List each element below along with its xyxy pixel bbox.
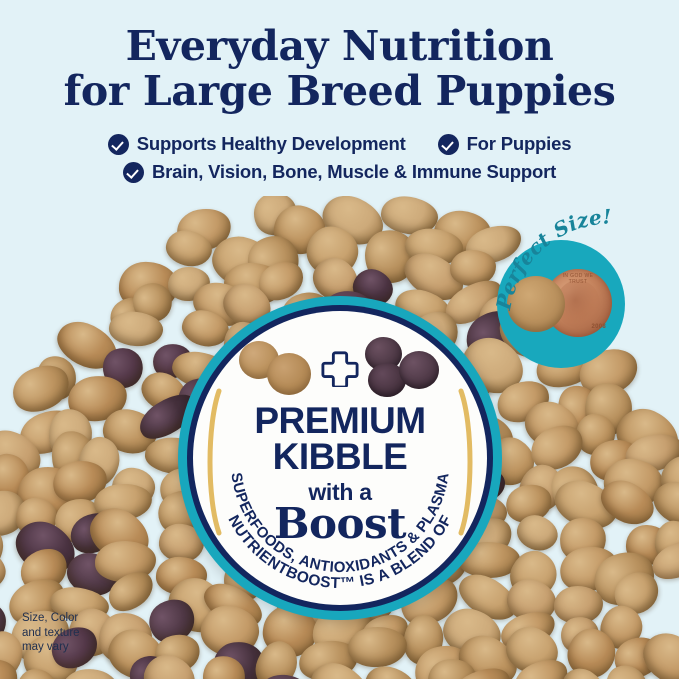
benefit-item: Brain, Vision, Bone, Muscle & Immune Sup…	[123, 161, 556, 183]
infographic-canvas: Everyday Nutrition for Large Breed Puppi…	[0, 0, 679, 679]
disclaimer-line-2: and texture	[22, 626, 142, 641]
kibble-size-sample	[507, 276, 565, 332]
benefit-label: Supports Healthy Development	[137, 133, 406, 155]
check-circle-icon	[123, 162, 144, 183]
benefit-row-1: Supports Healthy Development For Puppies	[0, 133, 679, 155]
benefit-row-2: Brain, Vision, Bone, Muscle & Immune Sup…	[0, 161, 679, 183]
badge-face: PREMIUM KIBBLE with a Boost NUTRIENTBOOS…	[193, 311, 487, 605]
premium-kibble-badge: PREMIUM KIBBLE with a Boost NUTRIENTBOOS…	[178, 296, 502, 620]
benefit-label: Brain, Vision, Bone, Muscle & Immune Sup…	[152, 161, 556, 183]
disclaimer-line-3: may vary	[22, 640, 142, 655]
disclaimer-line-1: Size, Color	[22, 611, 142, 626]
coin-year: 2008	[591, 324, 606, 330]
headline-line-2: for Large Breed Puppies	[0, 69, 679, 114]
check-circle-icon	[438, 134, 459, 155]
benefit-item: Supports Healthy Development	[108, 133, 406, 155]
disclaimer-text: Size, Color and texture may vary	[22, 611, 142, 655]
benefit-label: For Puppies	[467, 133, 572, 155]
headline-line-1: Everyday Nutrition	[126, 22, 554, 70]
check-circle-icon	[108, 134, 129, 155]
badge-arc-text: NUTRIENTBOOST™ IS A BLEND OF SUPERFOODS,…	[193, 311, 487, 605]
kibble-piece	[347, 626, 408, 669]
perfect-size-callout: IN GOD WE TRUST 2008 Perfect Size!	[497, 240, 625, 368]
page-title: Everyday Nutrition for Large Breed Puppi…	[0, 24, 679, 114]
benefit-list: Supports Healthy Development For Puppies…	[0, 133, 679, 189]
benefit-item: For Puppies	[438, 133, 572, 155]
